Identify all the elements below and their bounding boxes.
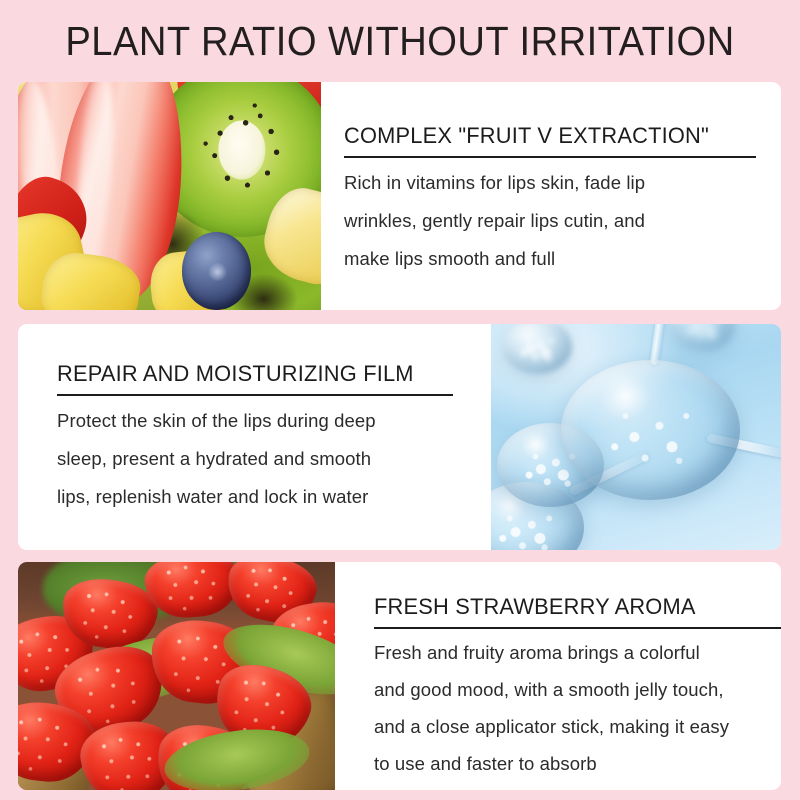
description-line: sleep, present a hydrated and smooth [57, 440, 376, 478]
feature-text-block: COMPLEX "FRUIT V EXTRACTION" Rich in vit… [321, 82, 781, 310]
feature-text-block: FRESH STRAWBERRY AROMA Fresh and fruity … [335, 562, 781, 790]
product-feature-poster: PLANT RATIO WITHOUT IRRITATION COMPLEX "… [0, 0, 800, 800]
feature-text-block: REPAIR AND MOISTURIZING FILM Protect the… [18, 324, 491, 550]
page-title: PLANT RATIO WITHOUT IRRITATION [28, 16, 772, 66]
feature-description: Rich in vitamins for lips skin, fade lip… [344, 164, 645, 278]
feature-description: Protect the skin of the lips during deep… [57, 402, 376, 516]
mixed-fruit-platter-photo [18, 82, 321, 310]
description-line: and a close applicator stick, making it … [374, 708, 729, 745]
feature-heading: REPAIR AND MOISTURIZING FILM [57, 361, 414, 387]
kiwi-core [219, 121, 266, 180]
description-line: wrinkles, gently repair lips cutin, and [344, 202, 645, 240]
heading-underline [374, 627, 781, 629]
description-line: make lips smooth and full [344, 240, 645, 278]
description-line: Protect the skin of the lips during deep [57, 402, 376, 440]
description-line: Rich in vitamins for lips skin, fade lip [344, 164, 645, 202]
feature-card-repair-moisturizing-film: REPAIR AND MOISTURIZING FILM Protect the… [18, 324, 781, 550]
feature-heading: COMPLEX "FRUIT V EXTRACTION" [344, 123, 709, 149]
water-sphere-icon [561, 360, 741, 500]
heading-underline [57, 394, 453, 396]
description-line: to use and faster to absorb [374, 745, 729, 782]
fresh-strawberries-in-crate-photo [18, 562, 335, 790]
description-line: and good mood, with a smooth jelly touch… [374, 671, 729, 708]
description-line: Fresh and fruity aroma brings a colorful [374, 634, 729, 671]
water-molecule-spheres-photo [491, 324, 781, 550]
feature-heading: FRESH STRAWBERRY AROMA [374, 594, 696, 620]
description-line: lips, replenish water and lock in water [57, 478, 376, 516]
heading-underline [344, 156, 756, 158]
feature-card-fruit-v-extraction: COMPLEX "FRUIT V EXTRACTION" Rich in vit… [18, 82, 781, 310]
blueberry-icon [182, 232, 252, 310]
feature-description: Fresh and fruity aroma brings a colorful… [374, 634, 729, 782]
feature-card-fresh-strawberry-aroma: FRESH STRAWBERRY AROMA Fresh and fruity … [18, 562, 781, 790]
